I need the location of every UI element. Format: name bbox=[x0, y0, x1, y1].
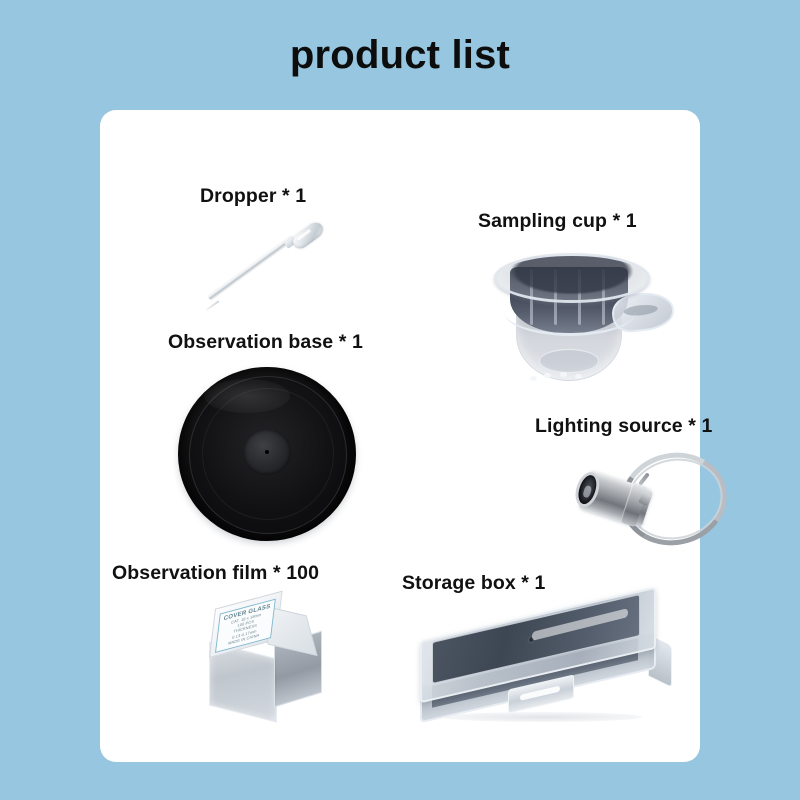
product-label-lighting-source: Lighting source * 1 bbox=[535, 415, 712, 438]
sampling-cup-icon bbox=[480, 245, 680, 390]
product-label-storage-box: Storage box * 1 bbox=[402, 572, 545, 595]
product-item-observation-film: Observation film * 100 COVER GLASS CAT. … bbox=[100, 540, 400, 765]
product-item-storage-box: Storage box * 1 bbox=[390, 540, 700, 765]
product-label-observation-film: Observation film * 100 bbox=[112, 562, 319, 585]
product-item-dropper: Dropper * 1 bbox=[100, 110, 400, 340]
product-label-observation-base: Observation base * 1 bbox=[168, 331, 363, 354]
page-title: product list bbox=[0, 33, 800, 78]
pipette-icon bbox=[195, 220, 345, 320]
observation-base-icon bbox=[178, 367, 368, 547]
product-label-dropper: Dropper * 1 bbox=[200, 185, 306, 208]
product-item-sampling-cup: Sampling cup * 1 bbox=[400, 110, 700, 400]
storage-box-icon bbox=[412, 608, 674, 743]
cover-glass-box-icon: COVER GLASS CAT. 18 x 18mm 100 PCS THICK… bbox=[195, 602, 345, 737]
product-label-sampling-cup: Sampling cup * 1 bbox=[478, 210, 637, 233]
product-list-card: Dropper * 1 Sampling cup * 1 Obser bbox=[100, 110, 700, 762]
product-item-observation-base: Observation base * 1 bbox=[100, 325, 420, 555]
